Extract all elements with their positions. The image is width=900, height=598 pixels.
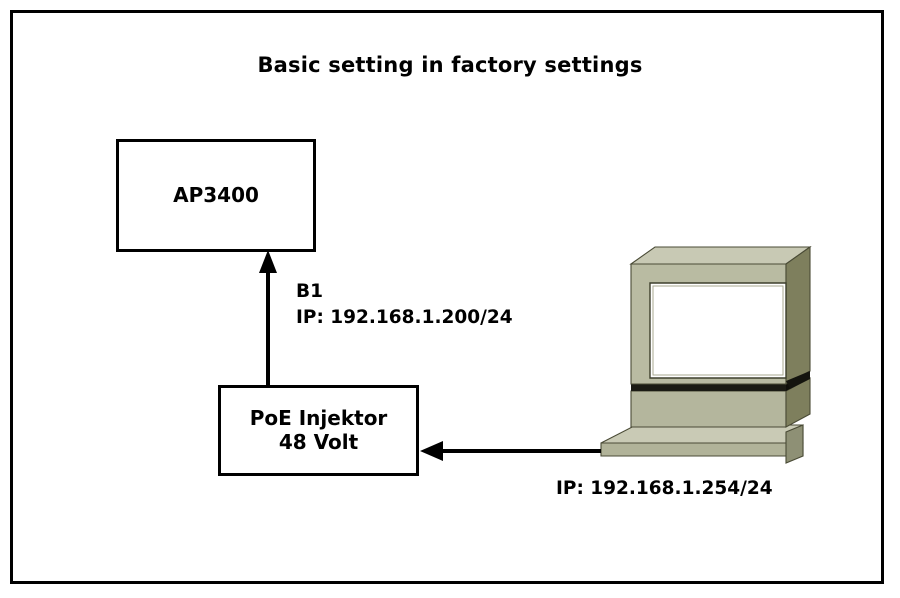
- connection-poe-to-ap: [259, 250, 277, 385]
- computer-screen-inner: [653, 286, 783, 375]
- computer-monitor-top: [631, 247, 810, 264]
- arrowhead-left-icon: [420, 441, 443, 461]
- arrowhead-up-icon: [259, 250, 277, 273]
- computer-monitor-side: [786, 247, 810, 384]
- desktop-computer-icon: [586, 247, 810, 463]
- diagram-vector-layer: [0, 0, 900, 598]
- computer-housing-gap: [631, 384, 786, 391]
- computer-keyboard-front: [601, 443, 803, 456]
- computer-keyboard-top: [601, 425, 803, 443]
- computer-keyboard-side: [786, 425, 803, 463]
- computer-pedestal-front: [631, 391, 786, 427]
- diagram-canvas: Basic setting in factory settings AP3400…: [0, 0, 900, 598]
- connection-computer-to-poe: [420, 441, 606, 461]
